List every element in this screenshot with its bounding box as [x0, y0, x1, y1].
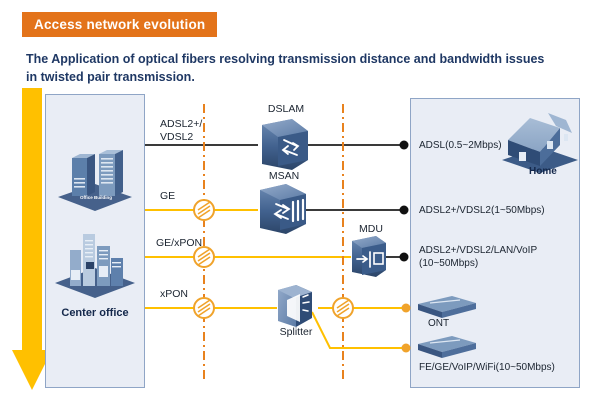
center-office-panel	[45, 94, 145, 388]
home-caption: Home	[529, 166, 557, 177]
page-subtitle: The Application of optical fibers resolv…	[26, 50, 566, 86]
office-building-caption: Office Building	[80, 195, 112, 200]
link-label-xpon: xPON	[160, 288, 188, 301]
optical-node-xpon	[194, 298, 214, 318]
ont-caption: ONT	[428, 318, 449, 329]
link-row-msan	[145, 206, 409, 215]
optical-node-splitter-out	[333, 298, 353, 318]
dslam-label: DSLAM	[258, 103, 314, 115]
splitter-label: Splitter	[268, 326, 324, 338]
dslam-device	[262, 119, 308, 170]
center-office-title: Center office	[45, 307, 145, 319]
link-row-mdu	[145, 253, 409, 262]
mdu-device	[352, 236, 386, 277]
terminal-dot-mdu	[400, 253, 409, 262]
banner-title: Access network evolution	[34, 17, 205, 32]
page-banner: Access network evolution	[22, 12, 217, 37]
splitter-device	[278, 285, 312, 327]
subtitle-line-1: The Application of optical fibers resolv…	[26, 52, 544, 66]
subtitle-line-2: in twisted pair transmission.	[26, 68, 566, 86]
fe-ge-caption: FE/GE/VoIP/WiFi(10~50Mbps)	[419, 362, 555, 373]
entry-label-adsl: ADSL(0.5~2Mbps)	[419, 139, 502, 152]
entry-label-adsl2: ADSL2+/VDSL2(1~50Mbps)	[419, 204, 545, 217]
entry-label-lan-voip: ADSL2+/VDSL2/LAN/VoIP (10~50Mbps)	[419, 244, 537, 270]
msan-device	[260, 184, 306, 234]
terminal-dot-dslam	[400, 141, 409, 150]
link-label-mdu: GE/xPON	[156, 237, 202, 250]
msan-label: MSAN	[256, 170, 312, 182]
link-label-dslam: ADSL2+/ VDSL2	[160, 118, 202, 144]
optical-node-ge	[194, 200, 214, 220]
mdu-label: MDU	[348, 223, 394, 235]
link-label-msan: GE	[160, 190, 175, 203]
terminal-dot-msan	[400, 206, 409, 215]
diagram-canvas: Access network evolution The Application…	[0, 0, 600, 400]
